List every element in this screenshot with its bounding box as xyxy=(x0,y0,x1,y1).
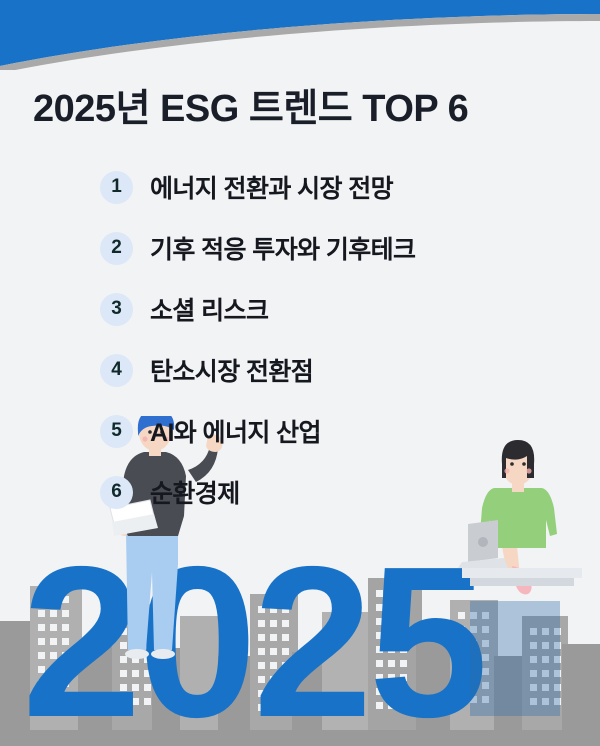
list-item: 3 소셜 리스크 xyxy=(100,286,415,332)
woman-cheek-right xyxy=(526,468,531,473)
man-shoe-left xyxy=(125,649,149,659)
woman-eye-left xyxy=(510,462,514,466)
banner-curve-graphic xyxy=(0,0,600,70)
list-item-label: 소셜 리스크 xyxy=(150,291,268,327)
list-item-label: AI와 에너지 산업 xyxy=(150,413,321,449)
list-item-label: 순환경제 xyxy=(150,474,240,510)
desk-top xyxy=(462,568,582,578)
numeral-shade xyxy=(470,601,560,716)
list-item-label: 기후 적응 투자와 기후테크 xyxy=(150,230,415,266)
list-item: 1 에너지 전환과 시장 전망 xyxy=(100,164,415,210)
header-banner xyxy=(0,0,600,70)
list-item: 2 기후 적응 투자와 기후테크 xyxy=(100,225,415,271)
list-item: 5 AI와 에너지 산업 xyxy=(100,408,415,454)
list-item-number-badge: 5 xyxy=(100,415,133,448)
trend-list: 1 에너지 전환과 시장 전망 2 기후 적응 투자와 기후테크 3 소셜 리스… xyxy=(100,164,415,530)
woman-eye-right xyxy=(522,462,526,466)
list-item-number-badge: 6 xyxy=(100,476,133,509)
list-item-label: 에너지 전환과 시장 전망 xyxy=(150,169,393,205)
page-title: 2025년 ESG 트렌드 TOP 6 xyxy=(33,77,468,132)
list-item-number-badge: 3 xyxy=(100,293,133,326)
man-shoe-right xyxy=(151,649,175,659)
list-item-label: 탄소시장 전환점 xyxy=(150,352,313,388)
desk-edge xyxy=(470,578,574,586)
list-item-number-badge: 4 xyxy=(100,354,133,387)
list-item: 6 순환경제 xyxy=(100,469,415,515)
list-item: 4 탄소시장 전환점 xyxy=(100,347,415,393)
ground-strip xyxy=(0,730,600,746)
esg-trend-poster: 2025년 ESG 트렌드 TOP 6 1 에너지 전환과 시장 전망 2 기후… xyxy=(0,0,600,746)
year-numerals-2025: 2025 xyxy=(22,521,484,746)
year-numerals-text: 2025 xyxy=(22,521,484,746)
list-item-number-badge: 1 xyxy=(100,171,133,204)
list-item-number-badge: 2 xyxy=(100,232,133,265)
woman-cheek-left xyxy=(504,468,509,473)
